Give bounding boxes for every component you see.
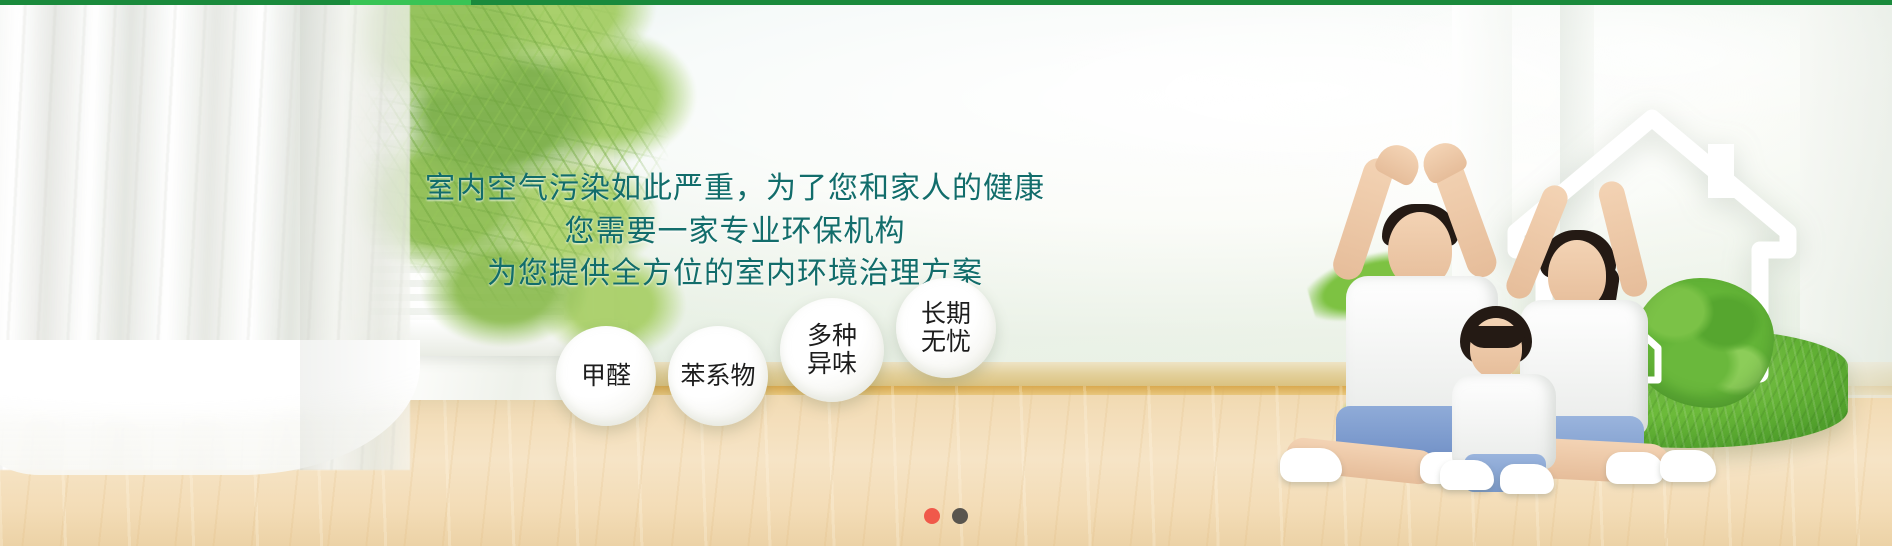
badge-label-wrapper: 长期 无忧 bbox=[921, 300, 971, 356]
headline-line-1: 室内空气污染如此严重，为了您和家人的健康 bbox=[0, 168, 1470, 211]
badge-label-top: 长期 bbox=[921, 300, 971, 328]
top-accent-highlight bbox=[350, 0, 471, 5]
daughter-shoe-right bbox=[1500, 464, 1554, 494]
badge-label-bottom: 异味 bbox=[807, 350, 857, 378]
carousel-dot-2[interactable] bbox=[952, 508, 968, 524]
badge-label-top: 多种 bbox=[807, 322, 857, 350]
daughter-bangs bbox=[1466, 326, 1526, 348]
person-daughter bbox=[1426, 290, 1586, 490]
badge-label-bottom: 无忧 bbox=[921, 328, 971, 356]
badge-label: 甲醛 bbox=[581, 362, 631, 390]
carousel-dots bbox=[0, 508, 1892, 524]
carousel-dot-1[interactable] bbox=[924, 508, 940, 524]
badge-long-term[interactable]: 长期 无忧 bbox=[896, 278, 996, 378]
father-shoe-left bbox=[1280, 448, 1342, 482]
top-accent-bar bbox=[0, 0, 1892, 5]
badge-benzene[interactable]: 苯系物 bbox=[668, 326, 768, 426]
badge-formaldehyde[interactable]: 甲醛 bbox=[556, 326, 656, 426]
mother-shoe-right bbox=[1660, 450, 1716, 482]
badge-odors[interactable]: 多种 异味 bbox=[780, 298, 884, 402]
mother-shoe-left bbox=[1606, 452, 1664, 484]
headline-line-2: 您需要一家专业环保机构 bbox=[0, 211, 1470, 254]
hero-banner: 室内空气污染如此严重，为了您和家人的健康 您需要一家专业环保机构 为您提供全方位… bbox=[0, 0, 1892, 546]
feature-badges: 甲醛 苯系物 多种 异味 长期 无忧 bbox=[556, 326, 996, 426]
headline: 室内空气污染如此严重，为了您和家人的健康 您需要一家专业环保机构 为您提供全方位… bbox=[0, 168, 1470, 296]
badge-label-wrapper: 多种 异味 bbox=[807, 322, 857, 378]
headline-line-3: 为您提供全方位的室内环境治理方案 bbox=[0, 253, 1470, 296]
daughter-shoe-left bbox=[1440, 460, 1494, 490]
badge-label: 苯系物 bbox=[680, 362, 755, 390]
